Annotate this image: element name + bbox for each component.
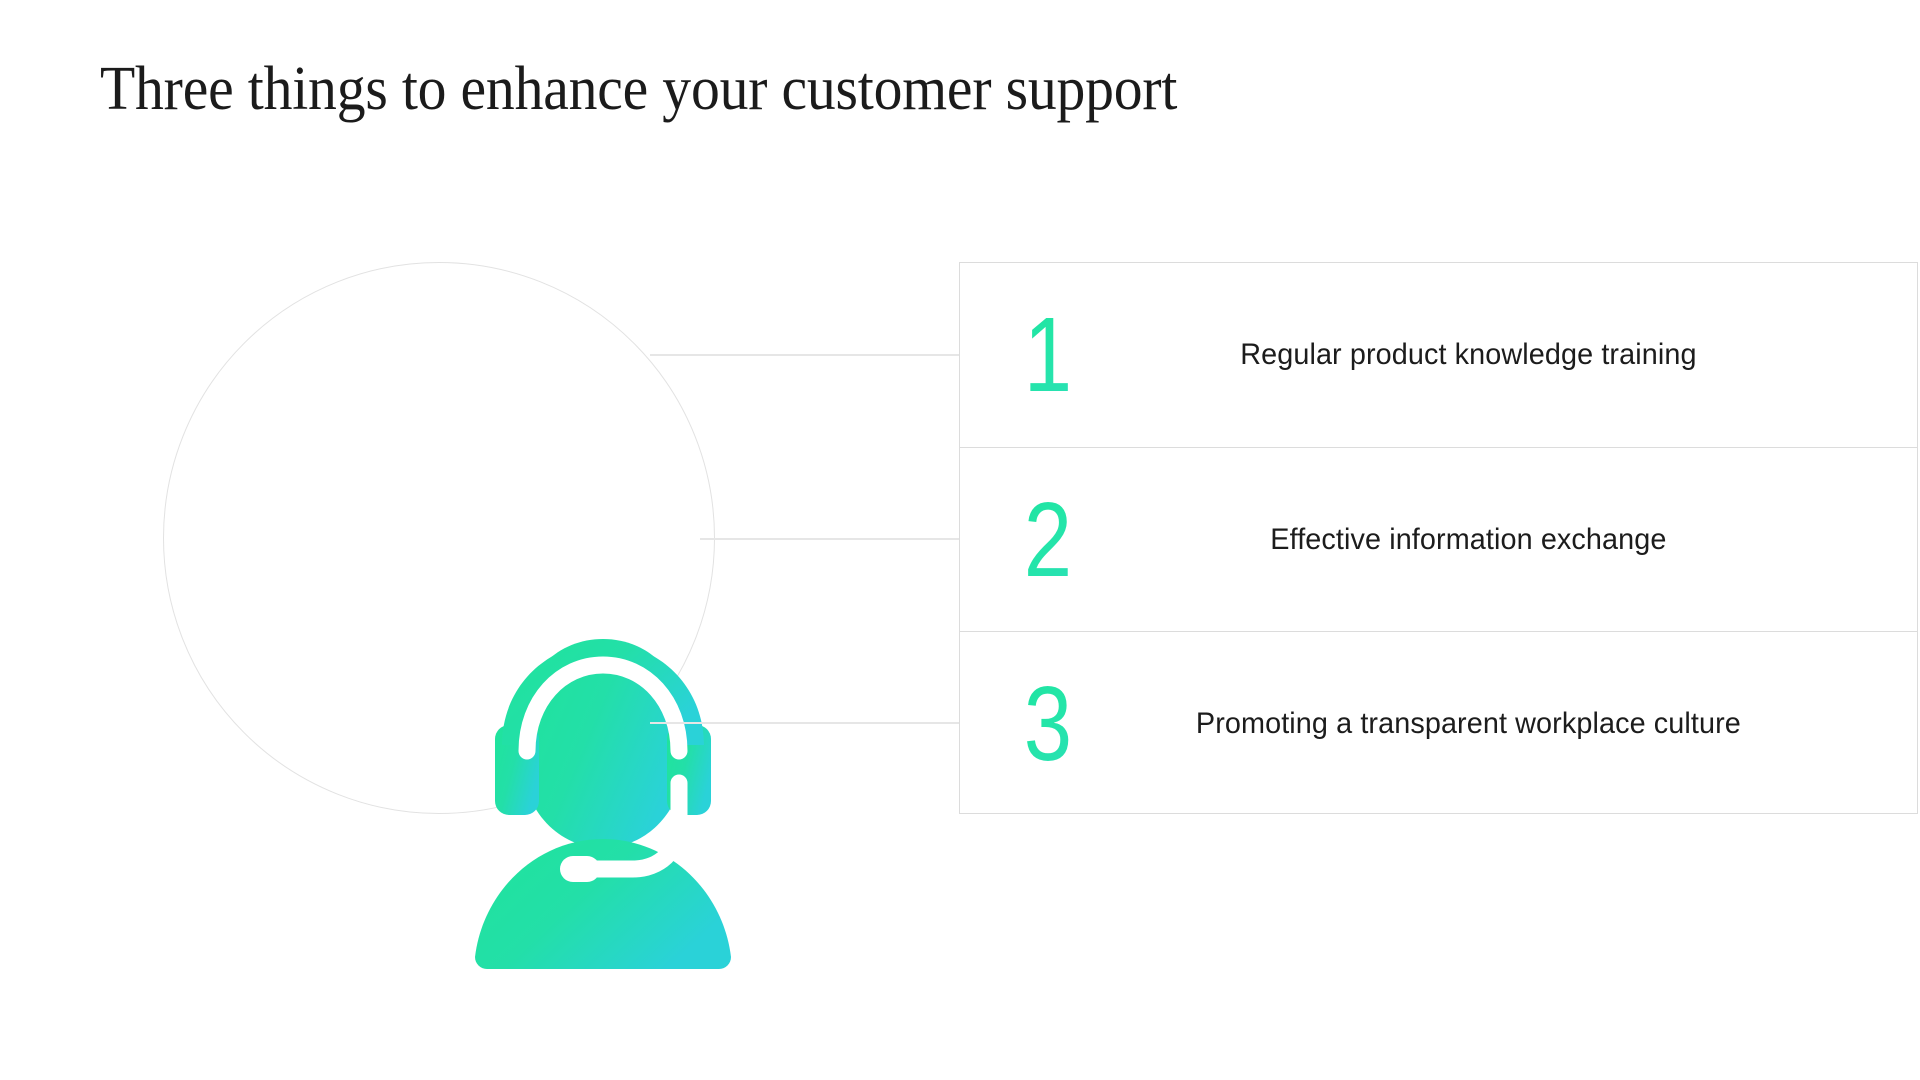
connector-line-1 — [650, 354, 960, 356]
table-row[interactable]: 3 Promoting a transparent workplace cult… — [960, 631, 1917, 815]
support-agent-headset-icon — [447, 633, 759, 969]
table-row[interactable]: 1 Regular product knowledge training — [960, 263, 1917, 447]
item-label: Regular product knowledge training — [1151, 338, 1902, 372]
items-table: 1 Regular product knowledge training 2 E… — [959, 262, 1918, 814]
item-label: Effective information exchange — [1151, 523, 1902, 557]
connector-line-2 — [700, 538, 960, 540]
item-number: 2 — [976, 487, 1120, 593]
illustration-circle — [163, 262, 715, 814]
item-label: Promoting a transparent workplace cultur… — [1151, 707, 1902, 741]
connector-line-3 — [650, 722, 960, 724]
table-row[interactable]: 2 Effective information exchange — [960, 447, 1917, 631]
slide-canvas: Three things to enhance your customer su… — [0, 0, 1920, 1080]
item-number: 3 — [976, 671, 1120, 777]
page-title: Three things to enhance your customer su… — [100, 55, 1495, 124]
item-number: 1 — [976, 302, 1120, 408]
